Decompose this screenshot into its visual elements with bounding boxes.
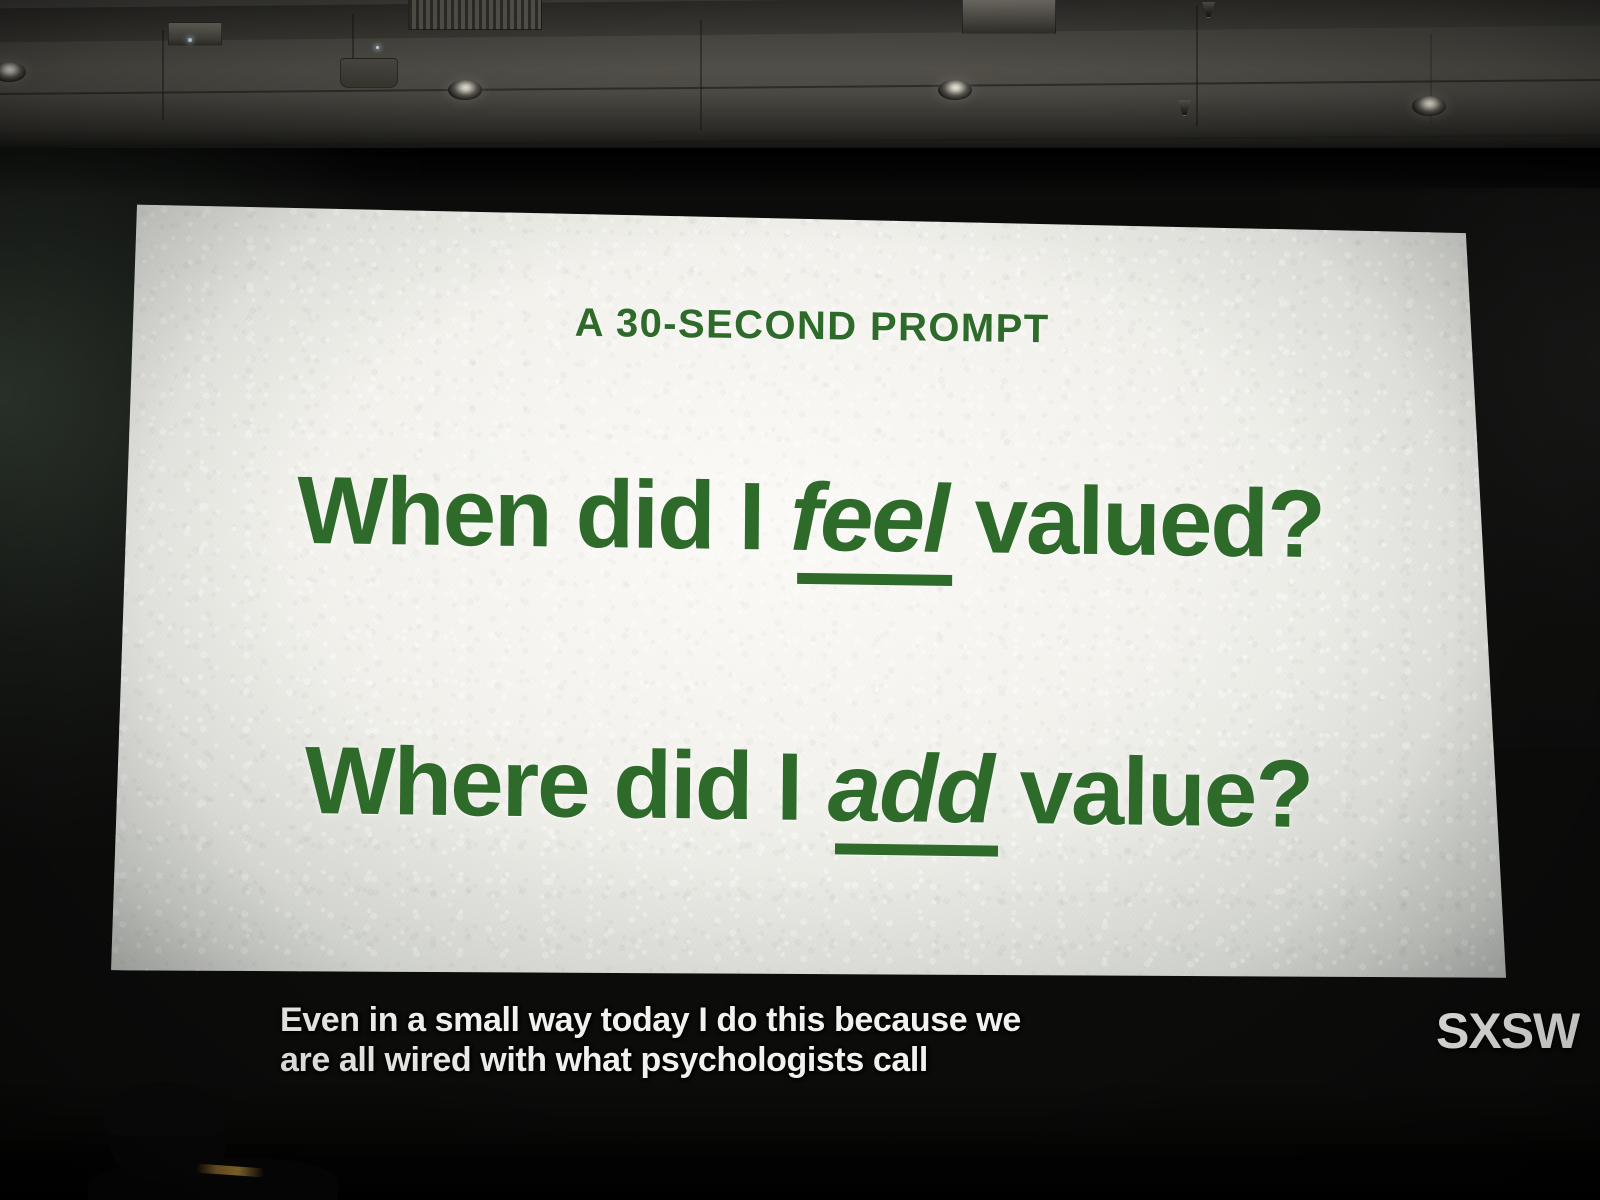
ceiling-panel-line bbox=[1196, 6, 1198, 126]
audience-member-silhouette bbox=[88, 1080, 348, 1200]
presentation-photo: A 30-SECOND PROMPT When did I feel value… bbox=[0, 0, 1600, 1200]
ceiling-panel-line bbox=[162, 30, 164, 120]
silhouette-cap bbox=[104, 1082, 224, 1136]
ceiling-air-grille bbox=[408, 0, 542, 30]
burned-in-caption: Even in a small way today I do this beca… bbox=[280, 1000, 1320, 1080]
ceiling-seam bbox=[0, 134, 1600, 147]
ceiling-dark-strip bbox=[0, 0, 1600, 42]
status-led-icon bbox=[188, 38, 192, 42]
ceiling-downlight-icon bbox=[448, 80, 482, 100]
ceiling-downlight-icon bbox=[0, 62, 26, 82]
ceiling-recess bbox=[962, 0, 1056, 34]
auditorium-ceiling bbox=[0, 0, 1600, 150]
slide-edge-highlight bbox=[107, 198, 1513, 990]
projected-slide: A 30-SECOND PROMPT When did I feel value… bbox=[107, 198, 1513, 990]
ceiling-panel-line bbox=[700, 20, 702, 130]
sxsw-logo: SXSW bbox=[1436, 1002, 1600, 1060]
ceiling-seam bbox=[0, 79, 1600, 95]
caption-line-1: Even in a small way today I do this beca… bbox=[280, 1000, 1320, 1040]
ceiling-box bbox=[168, 22, 222, 46]
ceiling-downlight-icon bbox=[938, 80, 972, 100]
status-led-icon bbox=[376, 46, 379, 49]
caption-line-2: are all wired with what psychologists ca… bbox=[280, 1040, 1320, 1080]
sprinkler-head-icon bbox=[1178, 100, 1191, 116]
ceiling-downlight-icon bbox=[1412, 96, 1446, 116]
ceiling-vent bbox=[340, 58, 398, 88]
